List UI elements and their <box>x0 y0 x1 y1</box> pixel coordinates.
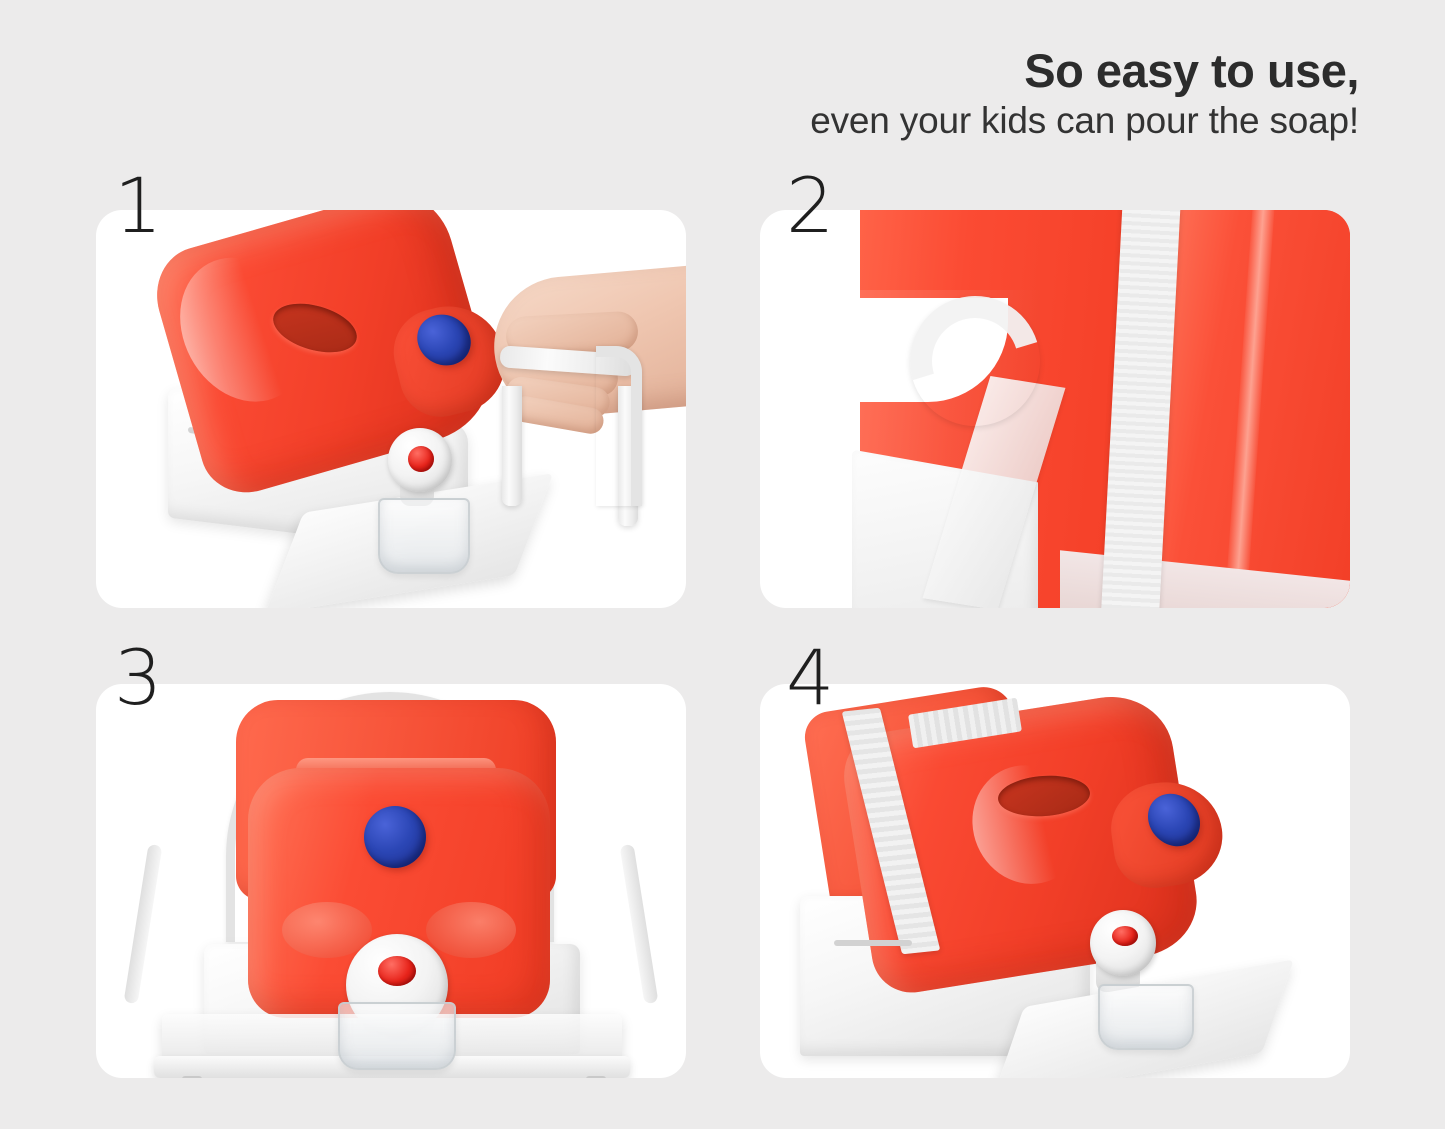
step-number-1: 1 <box>114 168 162 244</box>
step-panel-2: Close-up of the white elastic strap loop… <box>760 210 1350 608</box>
product-instruction-graphic: So easy to use, even your kids can pour … <box>0 0 1445 1129</box>
step-three-scene: Front view of the jug secured on the sta… <box>96 684 686 1078</box>
step-two-scene: Close-up of the white elastic strap loop… <box>760 210 1350 608</box>
step-panel-1: Laundry detergent jug tilted on the whit… <box>96 210 686 608</box>
stand-foot-left <box>182 1076 202 1078</box>
measuring-cup <box>378 498 470 574</box>
step-number-3: 3 <box>114 640 162 716</box>
stand-strap-slot <box>834 940 912 946</box>
headline-block: So easy to use, even your kids can pour … <box>810 46 1359 141</box>
step-panel-3: Front view of the jug secured on the sta… <box>96 684 686 1078</box>
jug-contour-right <box>426 902 516 958</box>
stand-foot-right <box>586 1076 606 1078</box>
step-number-2: 2 <box>786 168 834 244</box>
elastic-strap-right-leg <box>620 844 659 1004</box>
measuring-cup <box>1098 984 1194 1050</box>
red-push-button-icon <box>378 956 416 986</box>
elastic-strap-bend <box>596 346 642 506</box>
step-one-scene: Laundry detergent jug tilted on the whit… <box>96 210 686 608</box>
elastic-strap-left-leg <box>502 386 522 506</box>
headline-primary: So easy to use, <box>810 46 1359 96</box>
step-four-scene: Completed assembly: jug strapped onto th… <box>760 684 1350 1078</box>
headline-secondary: even your kids can pour the soap! <box>810 100 1359 141</box>
red-push-button-icon <box>408 446 434 472</box>
step-number-4: 4 <box>786 640 834 716</box>
measuring-cup <box>338 1002 456 1070</box>
red-push-button-icon <box>1112 926 1138 946</box>
elastic-strap-left-leg <box>124 844 163 1004</box>
step-panel-4: Completed assembly: jug strapped onto th… <box>760 684 1350 1078</box>
blue-cap-icon <box>364 806 426 868</box>
jug-highlight <box>954 748 1102 901</box>
